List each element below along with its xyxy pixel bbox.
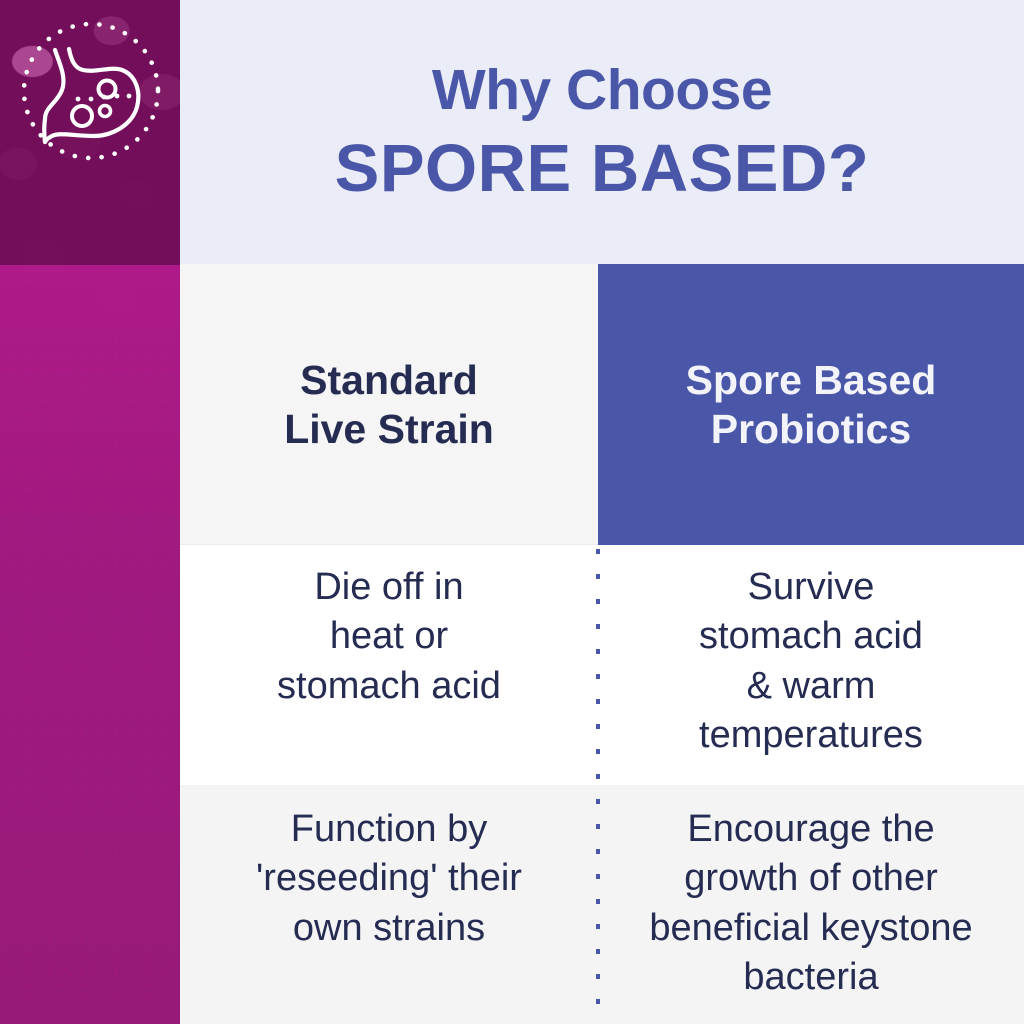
column-header-label: Standard Live Strain [284, 356, 494, 453]
page-title-line-2: SPORE BASED? [335, 135, 870, 202]
table-cell-standard: Function by 'reseeding' their own strain… [180, 785, 598, 1024]
table-cell-text: Function by 'reseeding' their own strain… [256, 805, 522, 953]
stomach-icon [12, 12, 170, 170]
table-cell-spore-based: Survive stomach acid & warm temperatures [598, 545, 1024, 785]
table-cell-text: Encourage the growth of other beneficial… [649, 805, 972, 1003]
page-title-band: Why Choose SPORE BASED? [180, 0, 1024, 264]
table-cell-spore-based: Encourage the growth of other beneficial… [598, 785, 1024, 1024]
table-cell-standard: Die off in heat or stomach acid [180, 545, 598, 785]
column-header-spore-based-probiotics: Spore Based Probiotics [598, 264, 1024, 545]
table-cell-text: Survive stomach acid & warm temperatures [699, 563, 923, 761]
infographic-canvas: Why Choose SPORE BASED? Standard Live St… [0, 0, 1024, 1024]
table-row: Die off in heat or stomach acid Survive … [180, 545, 1024, 785]
comparison-table: Standard Live Strain Spore Based Probiot… [180, 264, 1024, 1024]
column-dotted-divider [596, 549, 600, 1024]
page-title-line-1: Why Choose [432, 62, 772, 119]
texture-bottom-bright-overlay [0, 265, 180, 1024]
table-row: Function by 'reseeding' their own strain… [180, 785, 1024, 1024]
column-header-label: Spore Based Probiotics [686, 356, 937, 453]
table-cell-text: Die off in heat or stomach acid [277, 563, 501, 711]
column-header-standard-live-strain: Standard Live Strain [180, 264, 598, 545]
